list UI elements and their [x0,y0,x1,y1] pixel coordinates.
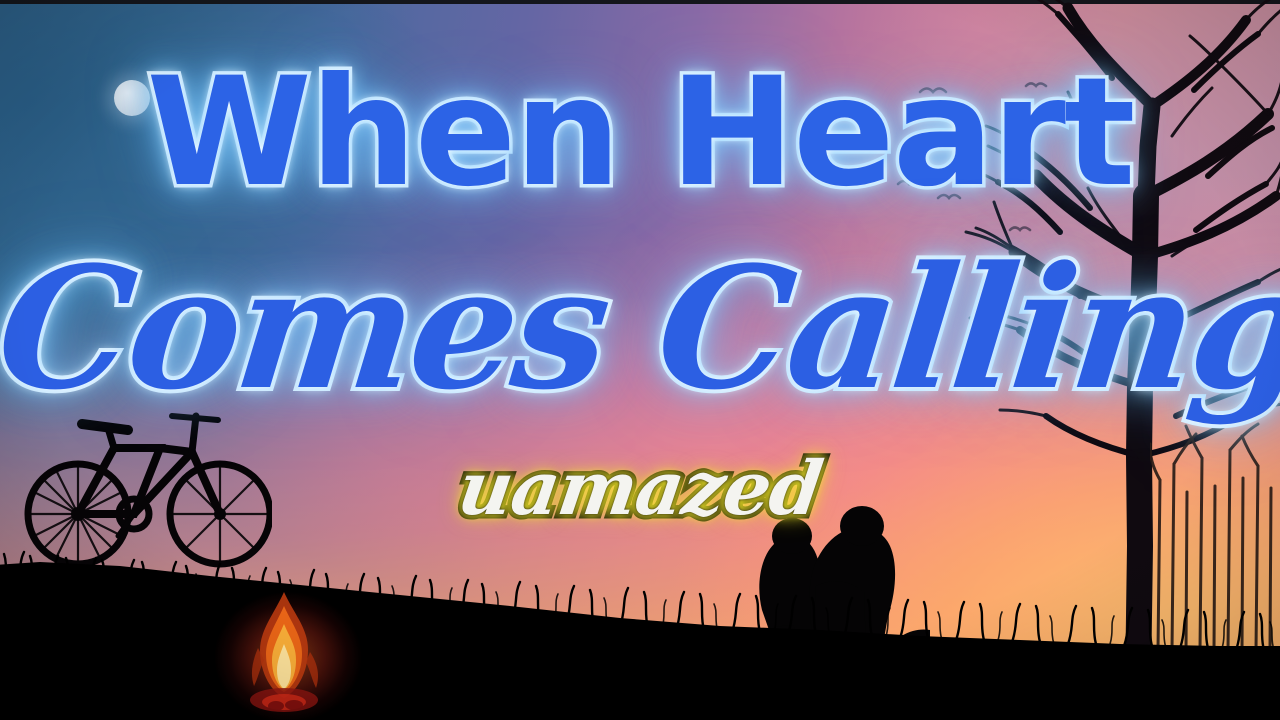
title-overlay: When Heart Comes Calling uamazed [0,0,1280,720]
channel-tag: uamazed [0,452,1280,526]
title-line-1: When Heart [0,58,1280,208]
title-line-2: Comes Calling [0,244,1280,412]
video-frame: When Heart Comes Calling uamazed [0,0,1280,720]
